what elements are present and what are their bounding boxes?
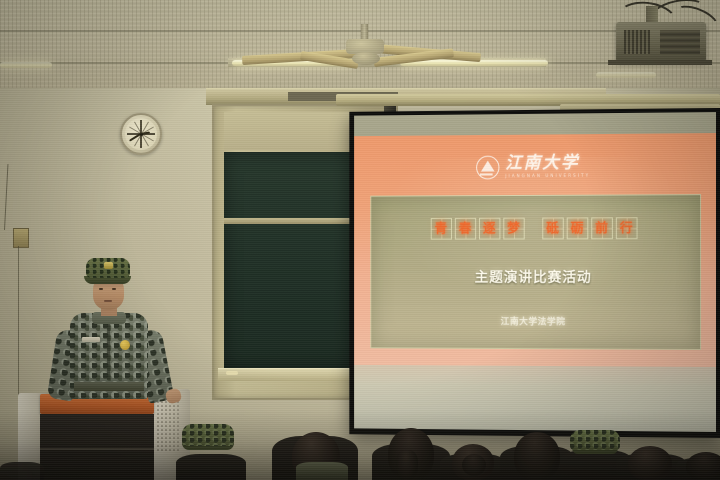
grid-title-cell: 梦	[503, 218, 524, 240]
grid-title-cell: 青	[430, 218, 451, 240]
university-logo: 江南大学 JIANGNAN UNIVERSITY	[354, 142, 716, 191]
slide-grid-title: 青 春 逐 梦 砥 砺	[354, 217, 716, 240]
grid-title-cell: 砥	[542, 218, 564, 240]
chalk-piece	[226, 371, 238, 375]
clock-face	[125, 118, 157, 150]
ceiling-seam	[0, 30, 720, 32]
speaker-uniform-placket	[107, 318, 110, 380]
fan-hub	[352, 52, 380, 65]
grid-title-cell: 砺	[566, 218, 588, 240]
projector-port-panel	[660, 30, 700, 54]
grid-title-char: 梦	[507, 222, 520, 235]
grid-title-char: 逐	[483, 222, 496, 235]
speaker-mouth	[104, 300, 112, 302]
fluorescent-tube	[596, 72, 656, 78]
projected-slide: 江南大学 JIANGNAN UNIVERSITY 青 春 逐	[354, 133, 716, 367]
speaker-eye	[99, 288, 103, 290]
grid-title-cell: 春	[454, 218, 475, 240]
speaker-name-tag	[82, 337, 100, 342]
screen-surface: 江南大学 JIANGNAN UNIVERSITY 青 春 逐	[354, 112, 716, 432]
foreground-shadow	[0, 410, 720, 480]
grid-title-char: 行	[620, 222, 633, 235]
logo-english-name: JIANGNAN UNIVERSITY	[505, 174, 590, 179]
grid-title-cell: 前	[591, 218, 613, 240]
grid-title-char: 青	[435, 223, 448, 236]
speaker-eye	[112, 288, 116, 290]
grid-title-cell: 行	[615, 217, 637, 239]
speaker-belt	[74, 382, 144, 391]
hanging-cable	[18, 246, 19, 396]
speaker-insignia-badge	[120, 340, 130, 350]
slide-credit: 江南大学法学院	[354, 314, 716, 328]
fluorescent-tube	[0, 62, 52, 68]
speaker-cap-badge	[104, 262, 113, 269]
grid-title-cell: 逐	[479, 218, 500, 240]
clock-center-pin	[140, 133, 143, 136]
grid-title-char: 砺	[571, 222, 584, 235]
jiangnan-university-emblem-icon	[476, 155, 499, 179]
logo-chinese-name: 江南大学	[505, 155, 590, 172]
projector-vent	[624, 30, 650, 54]
logo-text-block: 江南大学 JIANGNAN UNIVERSITY	[505, 155, 590, 179]
lecture-hall-photo: 江南大学 JIANGNAN UNIVERSITY 青 春 逐	[0, 0, 720, 480]
grid-title-char: 前	[595, 222, 608, 235]
projection-screen: 江南大学 JIANGNAN UNIVERSITY 青 春 逐	[349, 108, 720, 438]
wall-electrical-box	[13, 228, 29, 248]
projector-ceiling-plate	[608, 60, 712, 65]
grid-title-char: 春	[459, 222, 472, 235]
wall-clock	[120, 113, 162, 155]
slide-subtitle: 主题演讲比赛活动	[354, 267, 716, 287]
grid-title-char: 砥	[546, 222, 559, 235]
